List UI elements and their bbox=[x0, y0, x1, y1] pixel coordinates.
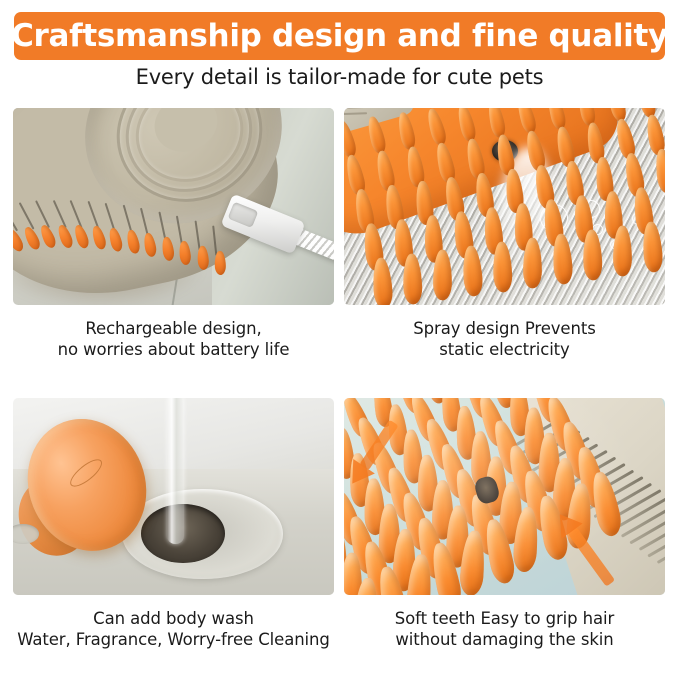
silicone-spike bbox=[551, 233, 573, 285]
brush-slot bbox=[13, 204, 18, 231]
silicone-tooth bbox=[160, 236, 174, 261]
page-title: Craftsmanship design and fine quality bbox=[11, 18, 668, 54]
feature-panel-body-wash: Can add body wash Water, Fragrance, Worr… bbox=[13, 398, 334, 650]
caption-line-1: Rechargeable design, bbox=[13, 318, 334, 339]
handle-rib bbox=[344, 112, 368, 116]
silicone-spike bbox=[613, 226, 632, 277]
brush-slot bbox=[194, 220, 200, 250]
caption-line-1: Spray design Prevents bbox=[344, 318, 665, 339]
caption-line-2: static electricity bbox=[344, 339, 665, 360]
silicone-tooth bbox=[89, 224, 107, 250]
caption-line-1: Can add body wash bbox=[13, 608, 334, 629]
brush-spraying-mist-on-pet-fur-image bbox=[344, 108, 665, 305]
product-infographic-page: Craftsmanship design and fine quality Ev… bbox=[0, 0, 679, 679]
silicone-spike bbox=[461, 245, 483, 297]
usb-plug-tip bbox=[227, 201, 258, 227]
header-banner: Craftsmanship design and fine quality bbox=[14, 12, 665, 60]
silicone-tooth bbox=[13, 227, 25, 253]
caption-line-1: Soft teeth Easy to grip hair bbox=[344, 608, 665, 629]
pouring-water-stream bbox=[167, 398, 184, 544]
page-subtitle: Every detail is tailor-made for cute pet… bbox=[0, 65, 679, 89]
silicone-tooth bbox=[55, 223, 74, 249]
silicone-spike bbox=[653, 148, 665, 194]
filling-water-tank-with-liquid-image bbox=[13, 398, 334, 595]
silicone-tooth bbox=[107, 226, 124, 252]
silicone-tooth bbox=[21, 225, 41, 251]
feature-panel-soft-teeth: Soft teeth Easy to grip hair without dam… bbox=[344, 398, 665, 650]
brush-slot bbox=[18, 202, 34, 229]
silicone-tooth bbox=[38, 223, 58, 249]
feature-caption-spray: Spray design Prevents static electricity bbox=[344, 318, 665, 360]
silicone-tooth bbox=[178, 240, 191, 265]
brush-slot bbox=[69, 200, 82, 229]
silicone-tooth bbox=[124, 229, 140, 255]
silicone-tooth bbox=[72, 223, 90, 249]
caption-line-2: Water, Fragrance, Worry-free Cleaning bbox=[13, 629, 334, 650]
feature-caption-rechargeable: Rechargeable design, no worries about ba… bbox=[13, 318, 334, 360]
brush-slot bbox=[212, 225, 217, 255]
silicone-tooth bbox=[214, 251, 226, 275]
caption-line-2: without damaging the skin bbox=[344, 629, 665, 650]
feature-panel-spray: Spray design Prevents static electricity bbox=[344, 108, 665, 360]
pet-brush-with-usb-charging-cable-image bbox=[13, 108, 334, 305]
handle-rib bbox=[344, 108, 368, 110]
caption-line-2: no worries about battery life bbox=[13, 339, 334, 360]
silicone-spike bbox=[582, 229, 602, 280]
cap-grip-slot bbox=[66, 455, 106, 491]
brush-slot bbox=[52, 200, 66, 228]
silicone-spike bbox=[433, 250, 452, 301]
feature-caption-soft-teeth: Soft teeth Easy to grip hair without dam… bbox=[344, 608, 665, 650]
close-up-of-soft-silicone-teeth-image bbox=[344, 398, 665, 595]
silicone-spike bbox=[641, 221, 663, 273]
feature-panel-rechargeable: Rechargeable design, no worries about ba… bbox=[13, 108, 334, 360]
brush-slot bbox=[35, 200, 50, 228]
silicone-tooth bbox=[142, 232, 157, 258]
feature-caption-body-wash: Can add body wash Water, Fragrance, Worr… bbox=[13, 608, 334, 650]
